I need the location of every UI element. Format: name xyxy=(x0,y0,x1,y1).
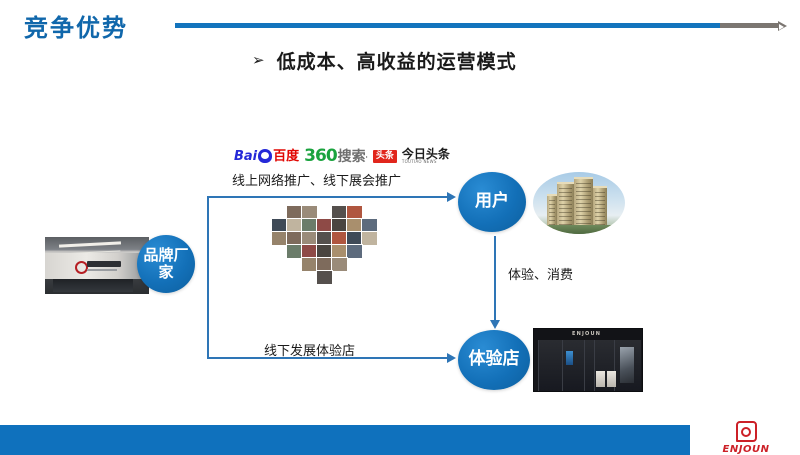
footer-brand-name: ENJOUN xyxy=(723,444,770,455)
store-panel-2 xyxy=(562,340,585,391)
collage-tile xyxy=(302,232,317,245)
company-subtitle-plate xyxy=(87,269,117,271)
collage-tile xyxy=(347,232,362,245)
collage-tile xyxy=(347,245,362,258)
collage-tile xyxy=(287,206,302,219)
collage-tile xyxy=(332,206,347,219)
slide-canvas: 竞争优势 ➢ 低成本、高收益的运营模式 Bai 百度 360 搜索 ' 头条 今… xyxy=(0,0,800,455)
search360-number: 360 xyxy=(304,148,337,165)
store-pedestal-1 xyxy=(596,371,605,387)
collage-tile xyxy=(317,219,332,232)
collage-tile xyxy=(317,245,332,258)
baidu-paw-icon xyxy=(258,149,272,163)
ceiling-light xyxy=(59,241,121,247)
collage-tile xyxy=(362,219,377,232)
node-user-label: 用户 xyxy=(475,192,509,212)
collage-tile xyxy=(287,232,302,245)
collage-tile xyxy=(347,206,362,219)
store-panel-1 xyxy=(538,340,563,391)
arrowhead-to-user-icon xyxy=(447,192,456,202)
collage-tile xyxy=(272,232,287,245)
collage-tile xyxy=(317,232,332,245)
header-rule-gray xyxy=(720,23,778,28)
chevron-notch xyxy=(779,24,784,30)
collage-tile xyxy=(317,258,332,271)
toutiao-badge: 头条 xyxy=(373,150,397,163)
toutiao-en-text: TOUTIAO NEWS xyxy=(402,160,450,164)
flow-connector-top xyxy=(207,196,447,198)
subtitle-text: 低成本、高收益的运营模式 xyxy=(277,47,517,74)
store-kiosk-screen xyxy=(566,351,573,365)
baidu-latin-text: Bai xyxy=(234,150,257,163)
collage-tile xyxy=(332,258,347,271)
channel-logo-strip: Bai 百度 360 搜索 ' 头条 今日头条 TOUTIAO NEWS xyxy=(234,146,450,166)
tower-ground xyxy=(533,225,625,234)
flow-connector-bottom xyxy=(207,357,447,359)
store-mirror xyxy=(620,347,634,383)
search360-tm-mark: ' xyxy=(366,156,368,163)
reception-desk xyxy=(53,279,133,292)
company-name-plate xyxy=(87,261,121,267)
enjoun-mark-icon xyxy=(736,421,757,442)
collage-tile xyxy=(332,219,347,232)
toutiao-logo: 今日头条 TOUTIAO NEWS xyxy=(402,148,450,164)
bullet-arrow-icon: ➢ xyxy=(252,53,265,68)
collage-tile xyxy=(287,245,302,258)
node-brand-manufacturer: 品牌厂家 xyxy=(137,235,195,293)
collage-tile xyxy=(302,206,317,219)
collage-tile xyxy=(332,232,347,245)
collage-tile xyxy=(317,271,332,284)
collage-tile xyxy=(347,219,362,232)
header-rule-blue xyxy=(175,23,720,28)
collage-tile xyxy=(302,258,317,271)
node-store-label: 体验店 xyxy=(469,350,520,370)
flow-connector-vertical xyxy=(207,196,209,359)
office-lobby-photo xyxy=(45,237,149,294)
page-title: 竞争优势 xyxy=(24,8,128,43)
search360-cn-text: 搜索 xyxy=(338,150,366,164)
arrowhead-to-store-icon xyxy=(447,353,456,363)
heart-photo-collage xyxy=(272,206,380,292)
collage-tile xyxy=(302,219,317,232)
label-online-promotion: 线上网络推广、线下展会推广 xyxy=(232,170,401,189)
subtitle-row: ➢ 低成本、高收益的运营模式 xyxy=(252,47,517,74)
arrowhead-down-icon xyxy=(490,320,500,329)
store-sign-text: ENJOUN xyxy=(572,331,601,337)
baidu-logo: Bai 百度 xyxy=(234,149,299,163)
residential-tower-photo xyxy=(533,172,625,234)
label-experience-consume: 体验、消费 xyxy=(508,264,573,283)
flow-connector-user-to-store xyxy=(494,236,496,322)
collage-tile xyxy=(362,232,377,245)
baidu-cn-text: 百度 xyxy=(273,150,299,163)
tower-b xyxy=(574,177,593,232)
collage-tile xyxy=(302,245,317,258)
search360-logo: 360 搜索 ' xyxy=(304,148,368,165)
node-brand-label: 品牌厂家 xyxy=(137,247,195,282)
collage-tile xyxy=(272,219,287,232)
experience-store-photo: ENJOUN xyxy=(533,328,643,392)
node-user: 用户 xyxy=(458,172,526,232)
store-pedestal-2 xyxy=(607,371,616,387)
collage-tile xyxy=(332,245,347,258)
node-experience-store: 体验店 xyxy=(458,330,530,390)
footer-bar xyxy=(0,425,690,455)
collage-tile xyxy=(287,219,302,232)
footer-brand-logo: ENJOUN xyxy=(715,421,777,455)
